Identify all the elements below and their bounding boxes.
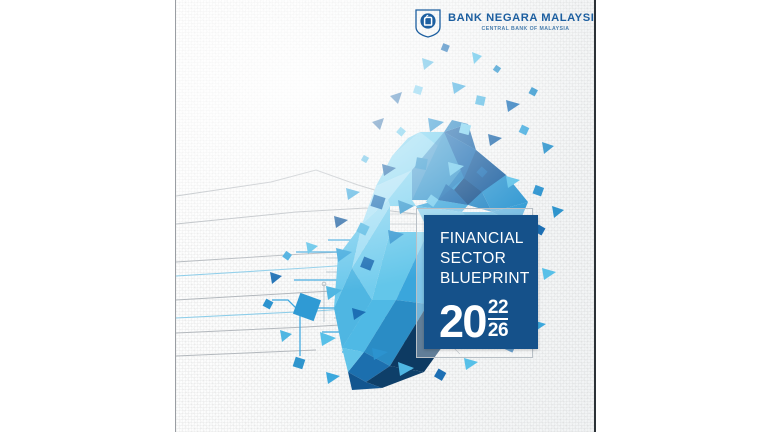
title-line-1: FINANCIAL (440, 229, 538, 249)
title-block: FINANCIAL SECTOR BLUEPRINT 20 22 26 (424, 215, 538, 349)
year-century: 20 (439, 303, 486, 342)
screenshot-root: BANK NEGARA MALAYSIA CENTRAL BANK OF MAL… (0, 0, 768, 432)
report-cover: BANK NEGARA MALAYSIA CENTRAL BANK OF MAL… (175, 0, 596, 432)
logo-wordmark: BANK NEGARA MALAYSIA CENTRAL BANK OF MAL… (448, 13, 596, 32)
masthead: BANK NEGARA MALAYSIA CENTRAL BANK OF MAL… (415, 8, 596, 38)
year-range: 20 22 26 (439, 298, 538, 341)
bank-name: BANK NEGARA MALAYSIA (448, 13, 596, 25)
year-start: 22 (488, 298, 508, 317)
year-stack: 22 26 (488, 298, 508, 340)
title-line-3: BLUEPRINT (440, 269, 538, 289)
title-line-2: SECTOR (440, 249, 538, 269)
bank-subtitle: CENTRAL BANK OF MALAYSIA (448, 27, 596, 33)
bnm-shield-icon (415, 8, 441, 38)
year-end: 26 (488, 321, 508, 340)
